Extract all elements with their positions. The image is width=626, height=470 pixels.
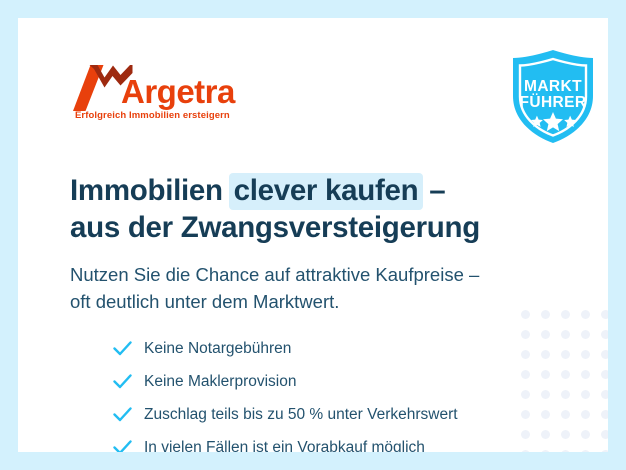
dot bbox=[581, 310, 590, 319]
badge-line2: FÜHRER bbox=[520, 94, 587, 111]
dot bbox=[601, 350, 608, 359]
headline-line2: aus der Zwangsversteigerung bbox=[70, 209, 540, 246]
benefits-list: Keine NotargebührenKeine Maklerprovision… bbox=[73, 332, 553, 452]
subtitle-line1: Nutzen Sie die Chance auf attraktive Kau… bbox=[70, 261, 550, 288]
check-icon bbox=[113, 440, 139, 452]
dot bbox=[601, 450, 608, 452]
dot bbox=[581, 350, 590, 359]
dot bbox=[561, 330, 570, 339]
promo-card: Argetra Erfolgreich Immobilien ersteiger… bbox=[18, 18, 608, 452]
list-item-label: Zuschlag teils bis zu 50 % unter Verkehr… bbox=[139, 407, 458, 423]
check-icon bbox=[113, 407, 139, 422]
dot bbox=[581, 330, 590, 339]
headline-highlight: clever kaufen bbox=[229, 173, 424, 210]
page-title: Immobilien clever kaufen – aus der Zwang… bbox=[70, 172, 540, 246]
dot bbox=[561, 410, 570, 419]
page-frame: Argetra Erfolgreich Immobilien ersteiger… bbox=[0, 0, 626, 470]
list-item: Zuschlag teils bis zu 50 % unter Verkehr… bbox=[113, 398, 553, 431]
dot bbox=[581, 370, 590, 379]
list-item: Keine Notargebühren bbox=[113, 332, 553, 365]
page-subtitle: Nutzen Sie die Chance auf attraktive Kau… bbox=[70, 261, 550, 316]
headline-line1-pre: Immobilien bbox=[70, 174, 231, 207]
list-item-label: Keine Notargebühren bbox=[139, 341, 291, 357]
badge-line1: MARKT bbox=[524, 78, 582, 95]
dot bbox=[561, 390, 570, 399]
subtitle-line2: oft deutlich unter dem Marktwert. bbox=[70, 288, 550, 315]
dot bbox=[561, 310, 570, 319]
dot bbox=[581, 450, 590, 452]
dot bbox=[561, 430, 570, 439]
check-icon bbox=[113, 341, 139, 356]
dot bbox=[581, 390, 590, 399]
logo-wordmark: Argetra bbox=[121, 75, 235, 108]
logo-tagline: Erfolgreich Immobilien ersteigern bbox=[75, 110, 230, 121]
list-item-label: Keine Maklerprovision bbox=[139, 374, 297, 390]
market-leader-badge: MARKT FÜHRER bbox=[507, 48, 599, 146]
dot bbox=[561, 450, 570, 452]
dot bbox=[601, 310, 608, 319]
dot bbox=[601, 370, 608, 379]
dot bbox=[581, 410, 590, 419]
dot bbox=[601, 430, 608, 439]
dot bbox=[601, 390, 608, 399]
list-item-label: In vielen Fällen ist ein Vorabkauf mögli… bbox=[139, 440, 425, 452]
dot bbox=[581, 430, 590, 439]
list-item: In vielen Fällen ist ein Vorabkauf mögli… bbox=[113, 431, 553, 452]
check-icon bbox=[113, 374, 139, 389]
headline-line1-post: – bbox=[421, 174, 445, 207]
dot bbox=[561, 370, 570, 379]
dot bbox=[601, 330, 608, 339]
list-item: Keine Maklerprovision bbox=[113, 365, 553, 398]
dot bbox=[561, 350, 570, 359]
argetra-logo[interactable]: Argetra Erfolgreich Immobilien ersteiger… bbox=[73, 63, 273, 128]
dot bbox=[601, 410, 608, 419]
